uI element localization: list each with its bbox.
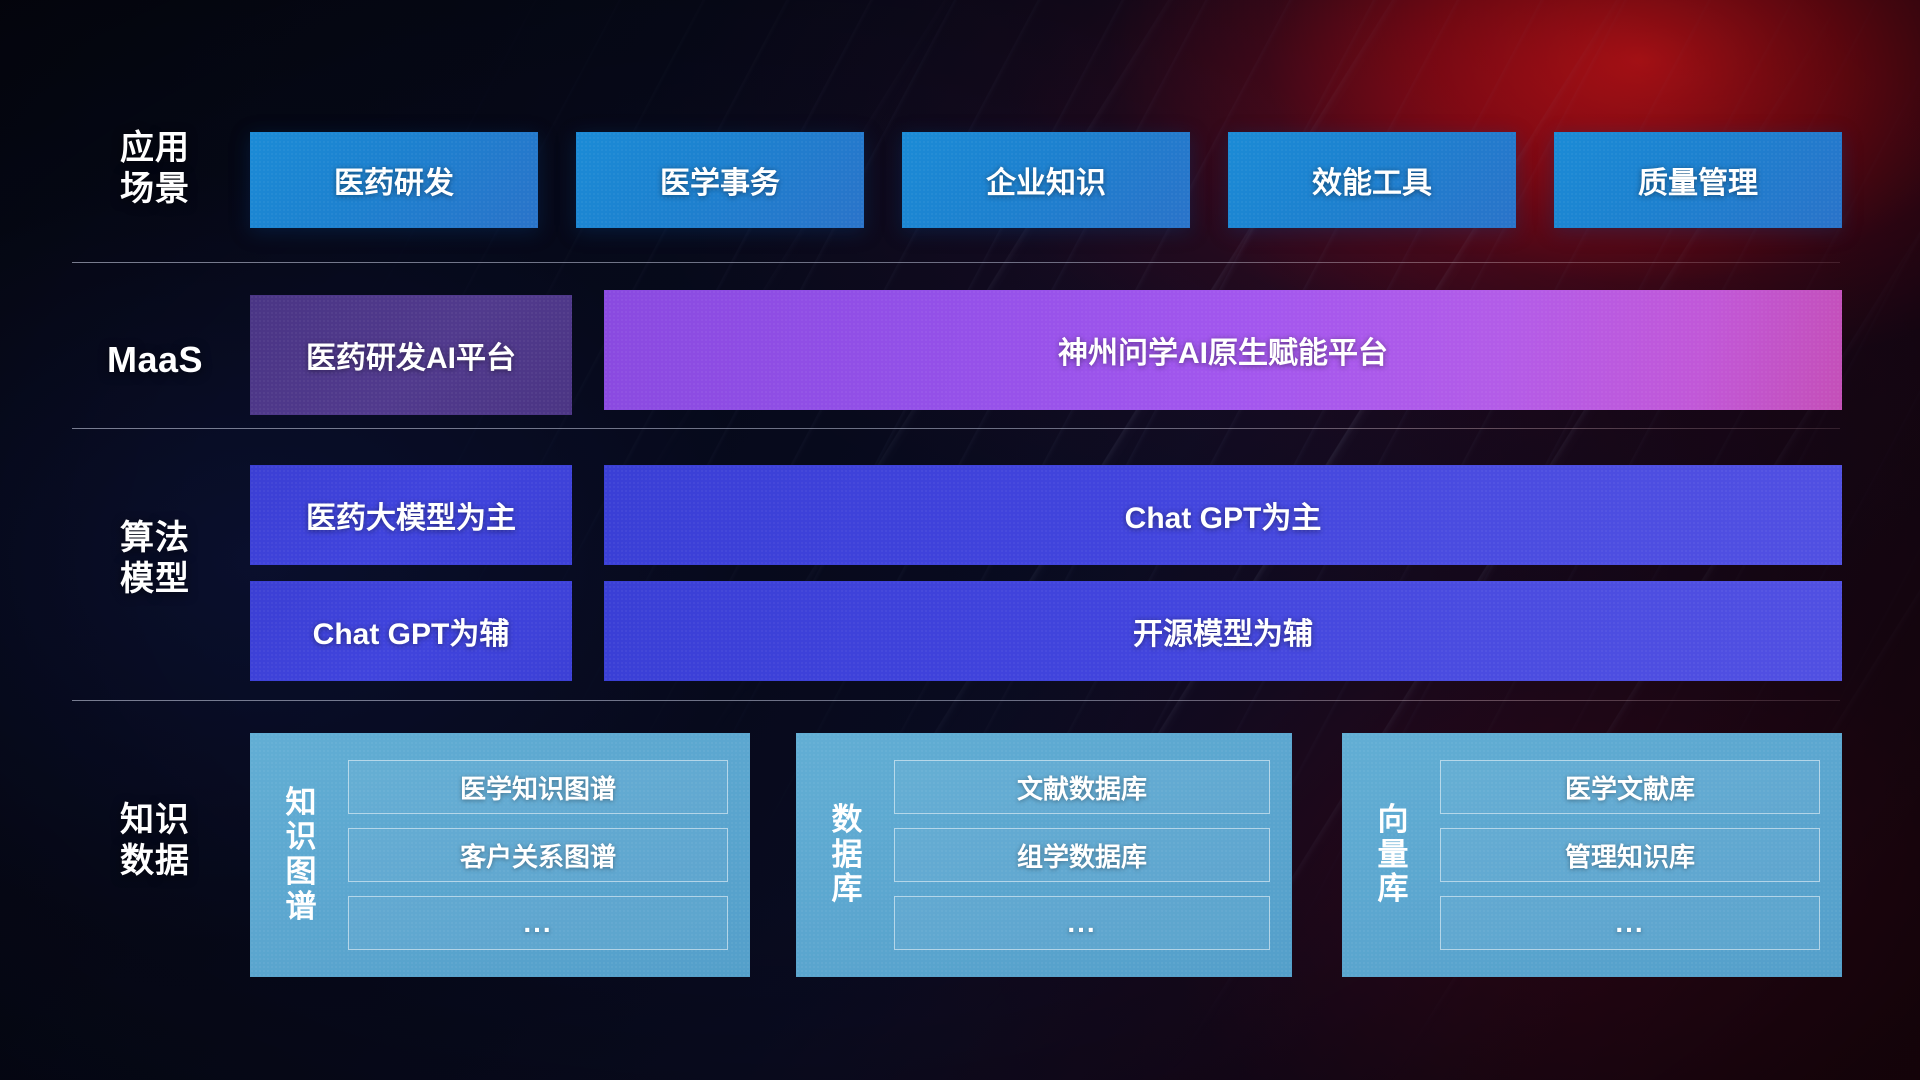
knowledge-item[interactable]: 组学数据库 [894, 828, 1270, 882]
scene-tile-drug-rd[interactable]: 医药研发 [250, 132, 538, 228]
algo-tile-medical-llm-primary[interactable]: 医药大模型为主 [250, 465, 572, 565]
divider-after-application-scenarios [72, 262, 1840, 263]
algo-tile-chatgpt-secondary[interactable]: Chat GPT为辅 [250, 581, 572, 681]
knowledge-item[interactable]: 管理知识库 [1440, 828, 1820, 882]
knowledge-item-more[interactable]: ... [894, 896, 1270, 950]
knowledge-panel-knowledge-graph[interactable]: 知 识 图 谱 医学知识图谱 客户关系图谱 ... [250, 733, 750, 977]
knowledge-panel-items-database: 文献数据库 组学数据库 ... [884, 760, 1292, 950]
scene-tile-quality-management[interactable]: 质量管理 [1554, 132, 1842, 228]
scene-tile-medical-affairs[interactable]: 医学事务 [576, 132, 864, 228]
knowledge-panel-label-char: 谱 [264, 890, 338, 925]
maas-tile-shenzhou-wenxue-platform[interactable]: 神州问学AI原生赋能平台 [604, 290, 1842, 410]
knowledge-panel-label-char: 图 [264, 855, 338, 890]
knowledge-item-more[interactable]: ... [1440, 896, 1820, 950]
knowledge-item[interactable]: 医学知识图谱 [348, 760, 728, 814]
knowledge-panel-label-char: 数 [810, 803, 884, 838]
knowledge-panel-database[interactable]: 数 据 库 文献数据库 组学数据库 ... [796, 733, 1292, 977]
maas-tile-label: 神州问学AI原生赋能平台 [1058, 328, 1388, 372]
scene-tile-label: 质量管理 [1638, 158, 1758, 202]
architecture-diagram: 应用 场景 医药研发 医学事务 企业知识 效能工具 质量管理 MaaS 医药研发… [0, 0, 1920, 1080]
knowledge-panel-label-vector-store: 向 量 库 [1356, 803, 1430, 907]
row-label-line: 场景 [70, 169, 240, 210]
knowledge-panel-label-char: 库 [810, 872, 884, 907]
row-label-line: 应用 [70, 128, 240, 169]
algo-tile-label: 医药大模型为主 [306, 493, 516, 537]
row-label-line: 知识 [70, 800, 240, 841]
knowledge-panel-label-knowledge-graph: 知 识 图 谱 [264, 786, 338, 925]
knowledge-panel-label-char: 库 [1356, 872, 1430, 907]
scene-tile-label: 医药研发 [334, 158, 454, 202]
knowledge-panel-items-vector-store: 医学文献库 管理知识库 ... [1430, 760, 1842, 950]
algo-tile-open-source-secondary[interactable]: 开源模型为辅 [604, 581, 1842, 681]
row-label-line: 算法 [70, 518, 240, 559]
knowledge-panel-label-char: 知 [264, 786, 338, 821]
knowledge-panel-vector-store[interactable]: 向 量 库 医学文献库 管理知识库 ... [1342, 733, 1842, 977]
row-label-maas: MaaS [70, 338, 240, 382]
knowledge-panel-label-char: 识 [264, 820, 338, 855]
scene-tile-enterprise-knowledge[interactable]: 企业知识 [902, 132, 1190, 228]
row-label-algorithm-models: 算法 模型 [70, 518, 240, 601]
knowledge-panel-label-database: 数 据 库 [810, 803, 884, 907]
knowledge-panel-label-char: 量 [1356, 838, 1430, 873]
slide-canvas: 应用 场景 医药研发 医学事务 企业知识 效能工具 质量管理 MaaS 医药研发… [0, 0, 1920, 1080]
divider-after-algorithm-models [72, 700, 1840, 701]
knowledge-panel-label-char: 向 [1356, 803, 1430, 838]
row-label-line: MaaS [70, 338, 240, 382]
row-label-knowledge-data: 知识 数据 [70, 800, 240, 883]
scene-tile-efficiency-tools[interactable]: 效能工具 [1228, 132, 1516, 228]
maas-tile-label: 医药研发AI平台 [306, 333, 516, 377]
knowledge-panel-items-knowledge-graph: 医学知识图谱 客户关系图谱 ... [338, 760, 750, 950]
row-label-line: 数据 [70, 841, 240, 882]
scene-tile-label: 医学事务 [660, 158, 780, 202]
knowledge-item-more[interactable]: ... [348, 896, 728, 950]
scene-tile-label: 效能工具 [1312, 158, 1432, 202]
algo-tile-chatgpt-primary[interactable]: Chat GPT为主 [604, 465, 1842, 565]
row-label-line: 模型 [70, 559, 240, 600]
knowledge-item[interactable]: 客户关系图谱 [348, 828, 728, 882]
knowledge-item[interactable]: 文献数据库 [894, 760, 1270, 814]
maas-tile-drug-rd-ai-platform[interactable]: 医药研发AI平台 [250, 295, 572, 415]
knowledge-panel-label-char: 据 [810, 838, 884, 873]
row-label-application-scenarios: 应用 场景 [70, 128, 240, 211]
scene-tile-label: 企业知识 [986, 158, 1106, 202]
algo-tile-label: Chat GPT为辅 [313, 609, 510, 653]
algo-tile-label: Chat GPT为主 [1125, 493, 1322, 537]
divider-after-maas [72, 428, 1840, 429]
algo-tile-label: 开源模型为辅 [1133, 609, 1313, 653]
knowledge-item[interactable]: 医学文献库 [1440, 760, 1820, 814]
